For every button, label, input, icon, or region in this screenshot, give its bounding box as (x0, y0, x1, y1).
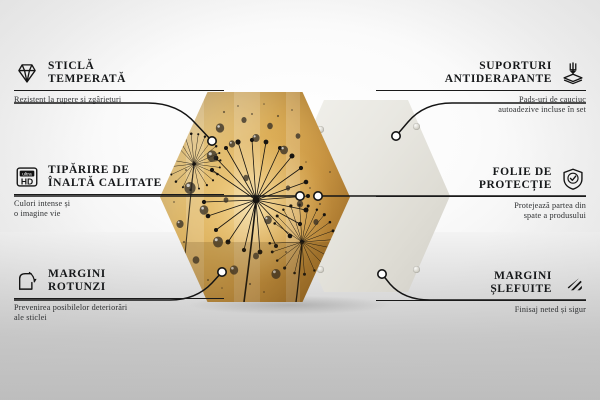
connector-dot (392, 132, 400, 140)
shield-check-icon (560, 166, 586, 192)
feature-title: MARGINI ROTUNZI (48, 268, 106, 293)
connector-dot (314, 192, 322, 200)
feature-header: MARGINI ROTUNZI (14, 268, 224, 294)
divider (376, 90, 586, 91)
feature-subtitle: Protejează partea din (376, 201, 586, 211)
diamond-icon (14, 60, 40, 86)
feature-title: STICLĂ TEMPERATĂ (48, 60, 126, 85)
feature-subtitle: Rezistent la rupere și zgârieturi (14, 95, 224, 105)
divider (376, 196, 586, 197)
feature-header: ultra HD TIPĂRIRE DE ÎNALTĂ CALITATE (14, 164, 224, 190)
polished-edges-icon (560, 270, 586, 296)
feature-subtitle: Pads-uri de cauciuc (376, 95, 586, 105)
feature-subtitle: o imagine vie (14, 209, 224, 219)
divider (14, 298, 224, 299)
feature-title: MARGINI ȘLEFUITE (490, 270, 552, 295)
feature-anti-slip-pads: SUPORTURI ANTIDERAPANTE Pads-uri de cauc… (376, 60, 586, 115)
feature-title: SUPORTURI ANTIDERAPANTE (445, 60, 552, 85)
anti-slip-pads-icon (560, 60, 586, 86)
infographic-canvas: STICLĂ TEMPERATĂ Rezistent la rupere și … (0, 0, 600, 400)
divider (14, 194, 224, 195)
connector-dot (296, 192, 304, 200)
feature-header: MARGINI ȘLEFUITE (376, 270, 586, 296)
rounded-corner-icon (14, 268, 40, 294)
feature-subtitle: ale sticlei (14, 313, 224, 323)
feature-protective-film: FOLIE DE PROTECȚIE Protejează partea din… (376, 166, 586, 221)
feature-header: FOLIE DE PROTECȚIE (376, 166, 586, 192)
feature-subtitle: autoadezive incluse în set (376, 105, 586, 115)
feature-subtitle: Finisaj neted și sigur (376, 305, 586, 315)
divider (376, 300, 586, 301)
feature-header: STICLĂ TEMPERATĂ (14, 60, 224, 86)
feature-rounded-edges: MARGINI ROTUNZI Prevenirea posibilelor d… (14, 268, 224, 323)
feature-high-quality-print: ultra HD TIPĂRIRE DE ÎNALTĂ CALITATE Cul… (14, 164, 224, 219)
connector-dot (208, 137, 216, 145)
feature-header: SUPORTURI ANTIDERAPANTE (376, 60, 586, 86)
ultra-hd-icon: ultra HD (14, 164, 40, 190)
divider (14, 90, 224, 91)
feature-subtitle: spate a produsului (376, 211, 586, 221)
feature-title: FOLIE DE PROTECȚIE (479, 166, 552, 191)
feature-polished-edges: MARGINI ȘLEFUITE Finisaj neted și sigur (376, 270, 586, 315)
feature-subtitle: Prevenirea posibilelor deteriorări (14, 303, 224, 313)
svg-text:HD: HD (21, 176, 33, 186)
feature-tempered-glass: STICLĂ TEMPERATĂ Rezistent la rupere și … (14, 60, 224, 105)
feature-title: TIPĂRIRE DE ÎNALTĂ CALITATE (48, 164, 162, 189)
feature-subtitle: Culori intense și (14, 199, 224, 209)
